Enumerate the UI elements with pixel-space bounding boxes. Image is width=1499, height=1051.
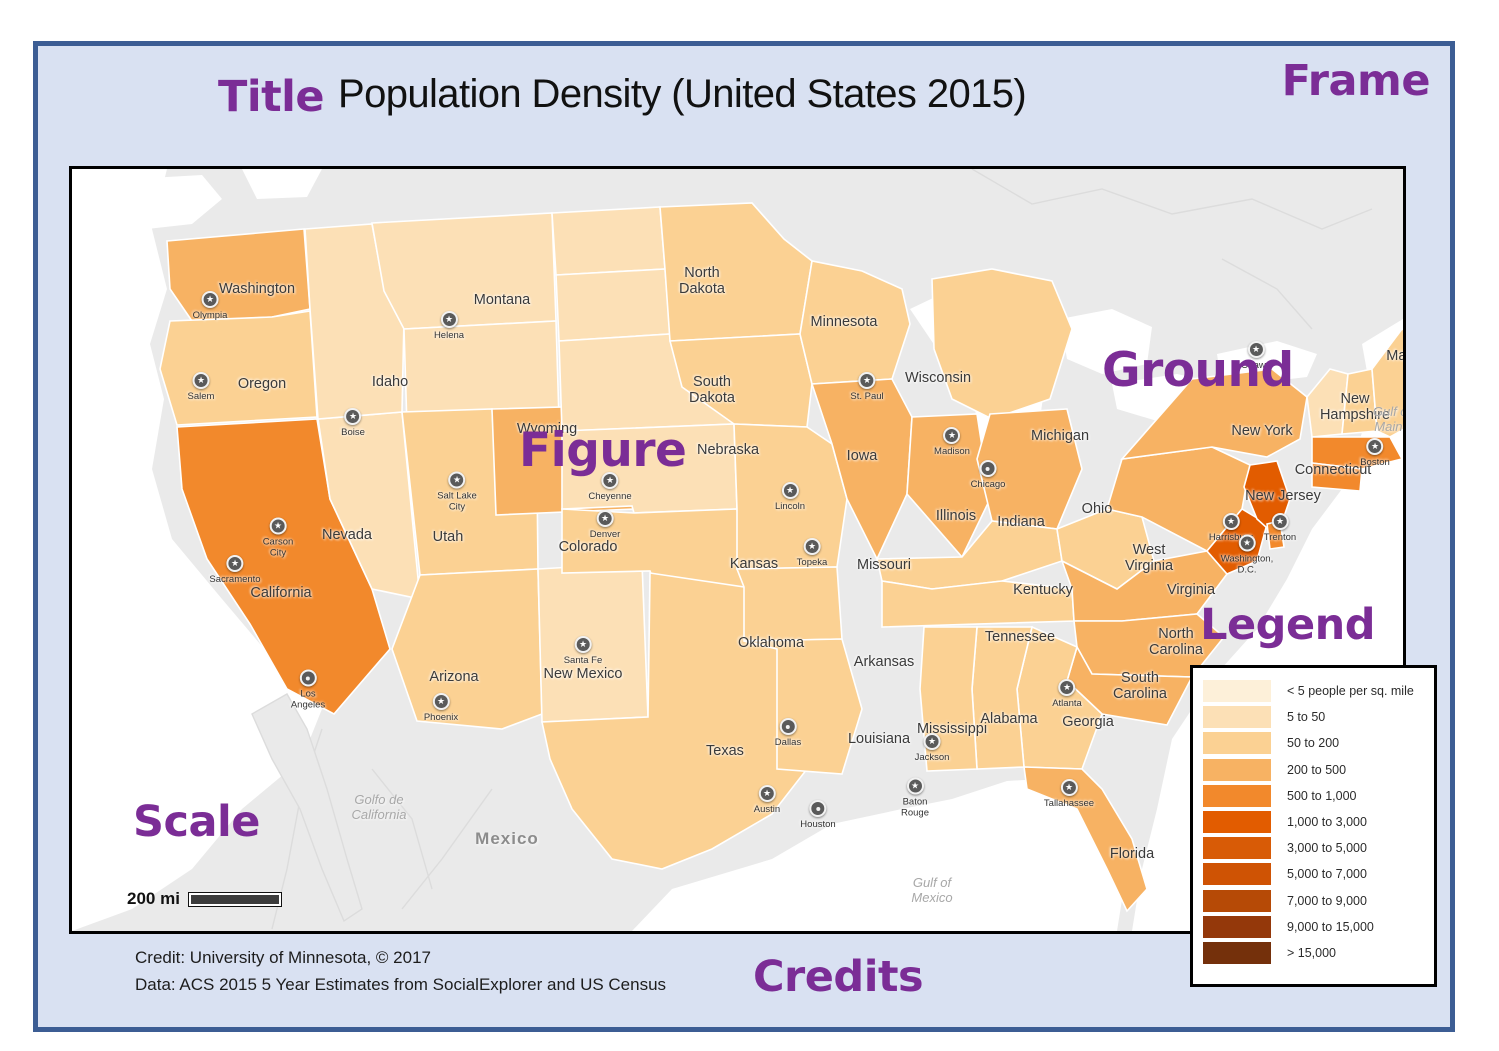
legend-label: 1,000 to 3,000 xyxy=(1287,815,1367,829)
legend-box: < 5 people per sq. mile5 to 5050 to 2002… xyxy=(1190,665,1437,987)
legend-label: 500 to 1,000 xyxy=(1287,789,1357,803)
legend-label: 200 to 500 xyxy=(1287,763,1346,777)
legend-label: 5 to 50 xyxy=(1287,710,1325,724)
annotation-frame: Frame xyxy=(1282,60,1430,103)
annotation-figure: Figure xyxy=(519,427,686,474)
page-title: Population Density (United States 2015) xyxy=(338,72,1026,117)
legend-swatch xyxy=(1203,890,1271,912)
legend-row: > 15,000 xyxy=(1203,940,1426,966)
legend-label: 7,000 to 9,000 xyxy=(1287,894,1367,908)
legend-label: 9,000 to 15,000 xyxy=(1287,920,1374,934)
legend-row: 9,000 to 15,000 xyxy=(1203,914,1426,940)
legend-swatch xyxy=(1203,942,1271,964)
legend-label: 3,000 to 5,000 xyxy=(1287,841,1367,855)
legend-swatch xyxy=(1203,759,1271,781)
annotation-legend: Legend xyxy=(1200,604,1375,647)
scale-bar-label: 200 mi xyxy=(127,889,180,909)
legend-swatch xyxy=(1203,811,1271,833)
annotation-ground: Ground xyxy=(1102,347,1294,394)
credit-line-1: Credit: University of Minnesota, © 2017 xyxy=(135,944,666,971)
legend-row: 5 to 50 xyxy=(1203,704,1426,730)
legend-row: 3,000 to 5,000 xyxy=(1203,835,1426,861)
legend-row: 1,000 to 3,000 xyxy=(1203,809,1426,835)
legend-row: 5,000 to 7,000 xyxy=(1203,861,1426,887)
map-frame: Frame Title Population Density (United S… xyxy=(33,41,1455,1032)
legend-swatch xyxy=(1203,732,1271,754)
legend-label: > 15,000 xyxy=(1287,946,1336,960)
legend-swatch xyxy=(1203,837,1271,859)
legend-row: 200 to 500 xyxy=(1203,757,1426,783)
legend-swatch xyxy=(1203,863,1271,885)
annotation-credits: Credits xyxy=(753,956,923,999)
legend-swatch xyxy=(1203,785,1271,807)
annotation-scale: Scale xyxy=(133,801,260,844)
legend-row: 7,000 to 9,000 xyxy=(1203,888,1426,914)
legend-label: 50 to 200 xyxy=(1287,736,1339,750)
legend-row: 50 to 200 xyxy=(1203,730,1426,756)
legend-label: < 5 people per sq. mile xyxy=(1287,684,1414,698)
legend-row: 500 to 1,000 xyxy=(1203,783,1426,809)
credits-block: Credit: University of Minnesota, © 2017 … xyxy=(135,944,666,998)
legend-swatch xyxy=(1203,706,1271,728)
scale-bar-graphic xyxy=(188,892,282,907)
credit-line-2: Data: ACS 2015 5 Year Estimates from Soc… xyxy=(135,971,666,998)
legend-row: < 5 people per sq. mile xyxy=(1203,678,1426,704)
legend-swatch xyxy=(1203,916,1271,938)
scale-bar: 200 mi xyxy=(127,889,282,909)
annotation-title: Title xyxy=(218,76,324,119)
legend-label: 5,000 to 7,000 xyxy=(1287,867,1367,881)
legend-swatch xyxy=(1203,680,1271,702)
